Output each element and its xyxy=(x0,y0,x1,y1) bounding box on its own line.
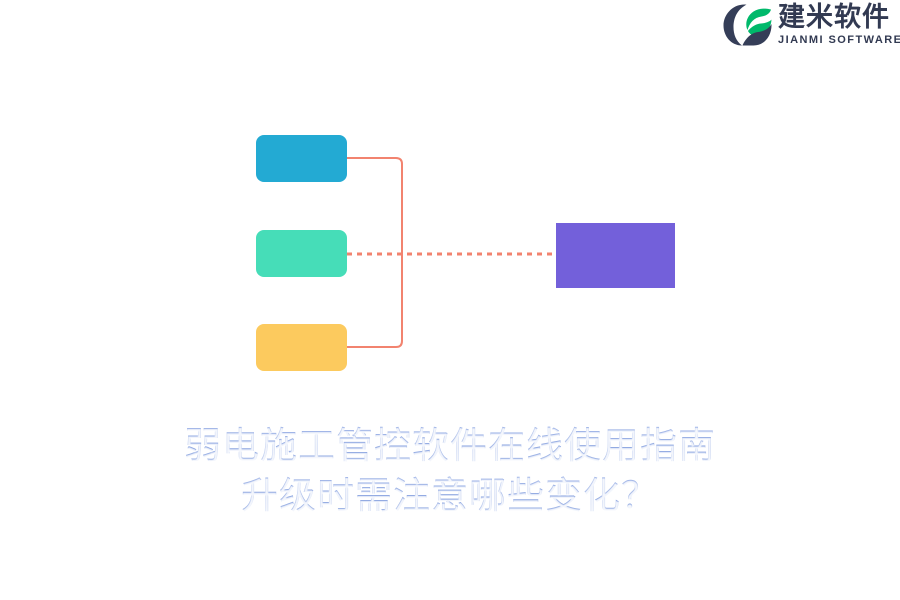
page-title-line-2: 升级时需注意哪些变化？ xyxy=(0,471,900,521)
diagram-node-top[interactable] xyxy=(256,135,347,182)
diagram-node-middle[interactable] xyxy=(256,230,347,277)
diagram-connectors xyxy=(0,0,900,400)
page-title-line-1: 弱电施工管控软件在线使用指南 xyxy=(0,421,900,471)
diagram xyxy=(0,0,900,400)
bracket-connector xyxy=(347,158,402,347)
diagram-node-bottom[interactable] xyxy=(256,324,347,371)
diagram-node-target[interactable] xyxy=(556,223,675,288)
page-title: 弱电施工管控软件在线使用指南 升级时需注意哪些变化？ xyxy=(0,421,900,521)
